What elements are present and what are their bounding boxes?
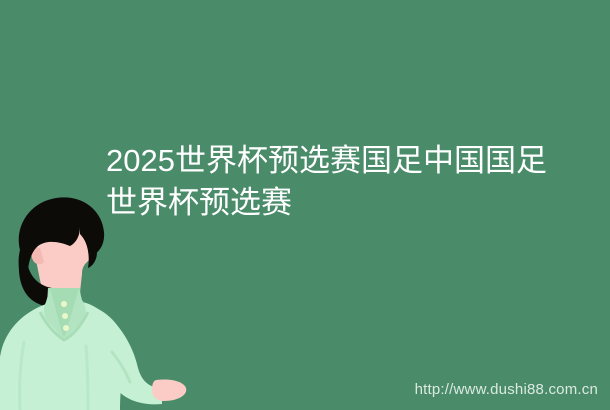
page-title: 2025世界杯预选赛国足中国国足世界杯预选赛 bbox=[106, 140, 556, 224]
hand-shape bbox=[152, 379, 186, 401]
button-icon bbox=[63, 325, 69, 331]
person-illustration bbox=[0, 196, 210, 410]
person-illustration-svg bbox=[0, 196, 210, 410]
promo-banner: 2025世界杯预选赛国足中国国足世界杯预选赛 http://www.dushi8… bbox=[0, 0, 610, 410]
button-icon bbox=[62, 313, 68, 319]
watermark-url: http://www.dushi88.com.cn bbox=[415, 381, 598, 398]
button-icon bbox=[61, 301, 67, 307]
